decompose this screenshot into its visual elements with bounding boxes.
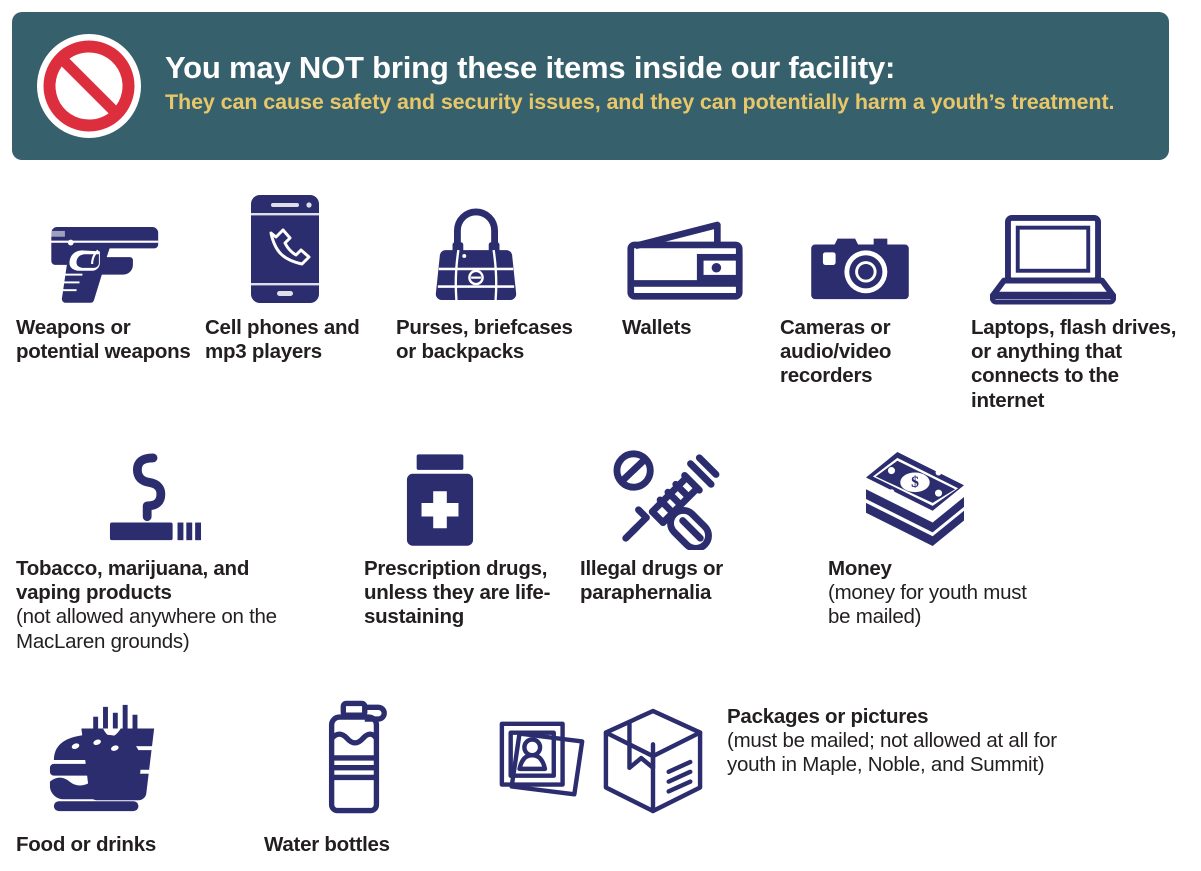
- item-label-wallets: Wallets: [622, 316, 772, 340]
- item-label-packages-note: (must be mailed; not allowed at all for …: [727, 729, 1057, 777]
- item-label-cameras: Cameras or audio/video recorders: [780, 316, 955, 389]
- photos-icon: [490, 705, 595, 810]
- money-stack-icon: $: [855, 443, 975, 548]
- item-label-tobacco: Tobacco, marijuana, and vaping products …: [16, 557, 316, 654]
- item-label-laptops: Laptops, flash drives, or anything that …: [971, 316, 1186, 413]
- item-label-tobacco-note: (not allowed anywhere on the MacLaren gr…: [16, 605, 316, 653]
- item-label-weapons: Weapons or potential weapons: [16, 316, 196, 364]
- item-label-illegal-drugs: Illegal drugs or paraphernalia: [580, 557, 780, 605]
- handgun-icon: [16, 195, 176, 305]
- food-icon: [30, 700, 180, 815]
- banner-subtitle: They can cause safety and security issue…: [165, 89, 1149, 117]
- syringe-icon: [600, 440, 730, 550]
- purse-icon: [396, 195, 556, 305]
- pill-bottle-icon: [385, 440, 495, 550]
- item-label-tobacco-main: Tobacco, marijuana, and vaping products: [16, 557, 249, 604]
- prohibited-items-banner: You may NOT bring these items inside our…: [12, 12, 1169, 160]
- item-label-food: Food or drinks: [16, 833, 246, 857]
- water-bottle-icon: [300, 700, 410, 815]
- banner-text-block: You may NOT bring these items inside our…: [165, 51, 1169, 116]
- item-label-money-note: (money for youth must be mailed): [828, 581, 1038, 629]
- item-label-packages-main: Packages or pictures: [727, 705, 928, 728]
- item-label-water-bottles: Water bottles: [264, 833, 464, 857]
- item-label-purses: Purses, briefcases or backpacks: [396, 316, 596, 364]
- cell-phone-icon: [205, 190, 365, 305]
- prohibition-sign-icon: [35, 32, 143, 140]
- item-label-money: Money (money for youth must be mailed): [828, 557, 1038, 630]
- item-label-cell-phones: Cell phones and mp3 players: [205, 316, 390, 364]
- banner-title: You may NOT bring these items inside our…: [165, 51, 1149, 86]
- laptop-icon: [965, 196, 1140, 306]
- camera-icon: [780, 200, 940, 305]
- wallet-icon: [600, 200, 770, 305]
- item-label-packages: Packages or pictures (must be mailed; no…: [727, 705, 1057, 778]
- cigarette-icon: [75, 440, 235, 550]
- svg-text:$: $: [911, 474, 919, 491]
- item-label-prescription-drugs: Prescription drugs, unless they are life…: [364, 557, 564, 630]
- package-box-icon: [595, 700, 710, 815]
- item-label-money-main: Money: [828, 557, 892, 580]
